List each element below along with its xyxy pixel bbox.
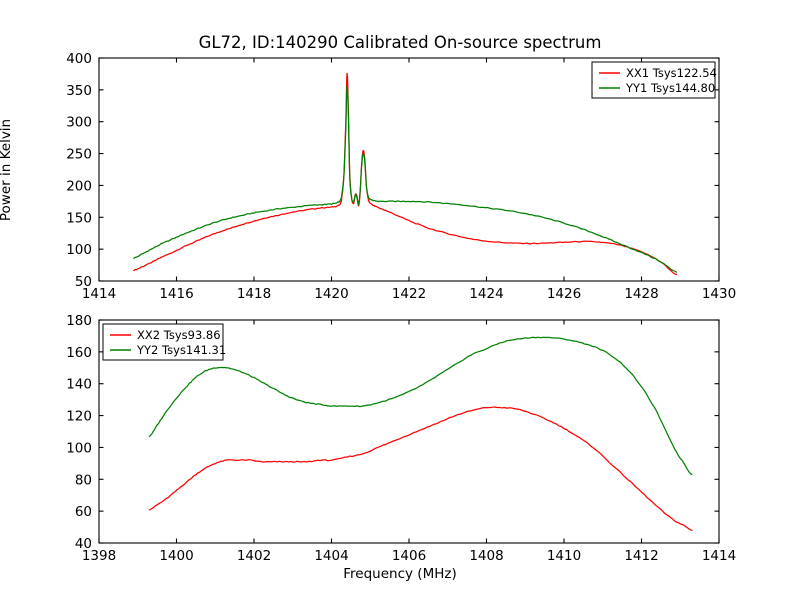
y-tick-label-top-1: 100 <box>66 242 92 258</box>
y-tick-label-bottom-2: 80 <box>75 472 92 488</box>
x-tick-label-top-5: 1424 <box>469 286 503 302</box>
series-line-yy1 <box>134 86 677 272</box>
y-tick-label-bottom-1: 60 <box>75 504 92 520</box>
x-tick-label-bottom-8: 1414 <box>702 548 736 564</box>
x-axis-label: Frequency (MHz) <box>0 566 800 582</box>
x-tick-label-bottom-4: 1406 <box>392 548 426 564</box>
x-tick-label-top-6: 1426 <box>547 286 581 302</box>
y-tick-label-top-5: 300 <box>66 115 92 131</box>
series-line-xx1 <box>134 73 677 274</box>
legend-label-top-1: YY1 Tsys144.80 <box>625 81 715 95</box>
x-tick-label-bottom-6: 1410 <box>547 548 581 564</box>
legend-top: XX1 Tsys122.54YY1 Tsys144.80 <box>592 62 717 98</box>
x-tick-label-bottom-3: 1404 <box>314 548 348 564</box>
x-tick-label-top-7: 1428 <box>624 286 658 302</box>
y-tick-label-bottom-0: 40 <box>75 536 92 552</box>
y-tick-label-top-0: 50 <box>75 274 92 290</box>
figure-canvas: GL72, ID:140290 Calibrated On-source spe… <box>0 0 800 600</box>
x-tick-label-top-4: 1422 <box>392 286 426 302</box>
panel-bottom: 1398140014021404140614081410141214144060… <box>66 313 736 564</box>
y-tick-label-bottom-6: 160 <box>66 345 92 361</box>
y-tick-label-bottom-3: 100 <box>66 440 92 456</box>
x-tick-label-bottom-1: 1400 <box>159 548 193 564</box>
legend-label-top-0: XX1 Tsys122.54 <box>626 66 717 80</box>
y-tick-label-bottom-7: 180 <box>66 313 92 329</box>
legend-label-bottom-0: XX2 Tsys93.86 <box>137 328 221 342</box>
y-tick-label-top-3: 200 <box>66 178 92 194</box>
y-tick-label-bottom-5: 140 <box>66 377 92 393</box>
traces-top <box>134 73 677 274</box>
traces-bottom <box>149 337 692 530</box>
panel-top: 1414141614181420142214241426142814305010… <box>66 51 736 302</box>
x-tick-label-top-2: 1418 <box>237 286 271 302</box>
y-tick-label-top-7: 400 <box>66 51 92 67</box>
x-tick-label-top-3: 1420 <box>314 286 348 302</box>
series-line-yy2 <box>149 337 692 474</box>
x-tick-label-bottom-5: 1408 <box>469 548 503 564</box>
series-line-xx2 <box>149 407 692 530</box>
legend-label-bottom-1: YY2 Tsys141.31 <box>136 343 226 357</box>
plot-area: 1414141614181420142214241426142814305010… <box>0 0 800 600</box>
page-title: GL72, ID:140290 Calibrated On-source spe… <box>0 33 800 52</box>
x-tick-label-bottom-2: 1402 <box>237 548 271 564</box>
y-tick-label-top-4: 250 <box>66 147 92 163</box>
y-tick-label-top-6: 350 <box>66 83 92 99</box>
legend-bottom: XX2 Tsys93.86YY2 Tsys141.31 <box>103 324 226 360</box>
x-tick-label-bottom-7: 1412 <box>624 548 658 564</box>
y-axis-label-text: Power in Kelvin <box>0 108 14 232</box>
y-tick-label-top-2: 150 <box>66 210 92 226</box>
x-tick-label-top-8: 1430 <box>702 286 736 302</box>
x-tick-label-top-1: 1416 <box>159 286 193 302</box>
y-tick-label-bottom-4: 120 <box>66 409 92 425</box>
